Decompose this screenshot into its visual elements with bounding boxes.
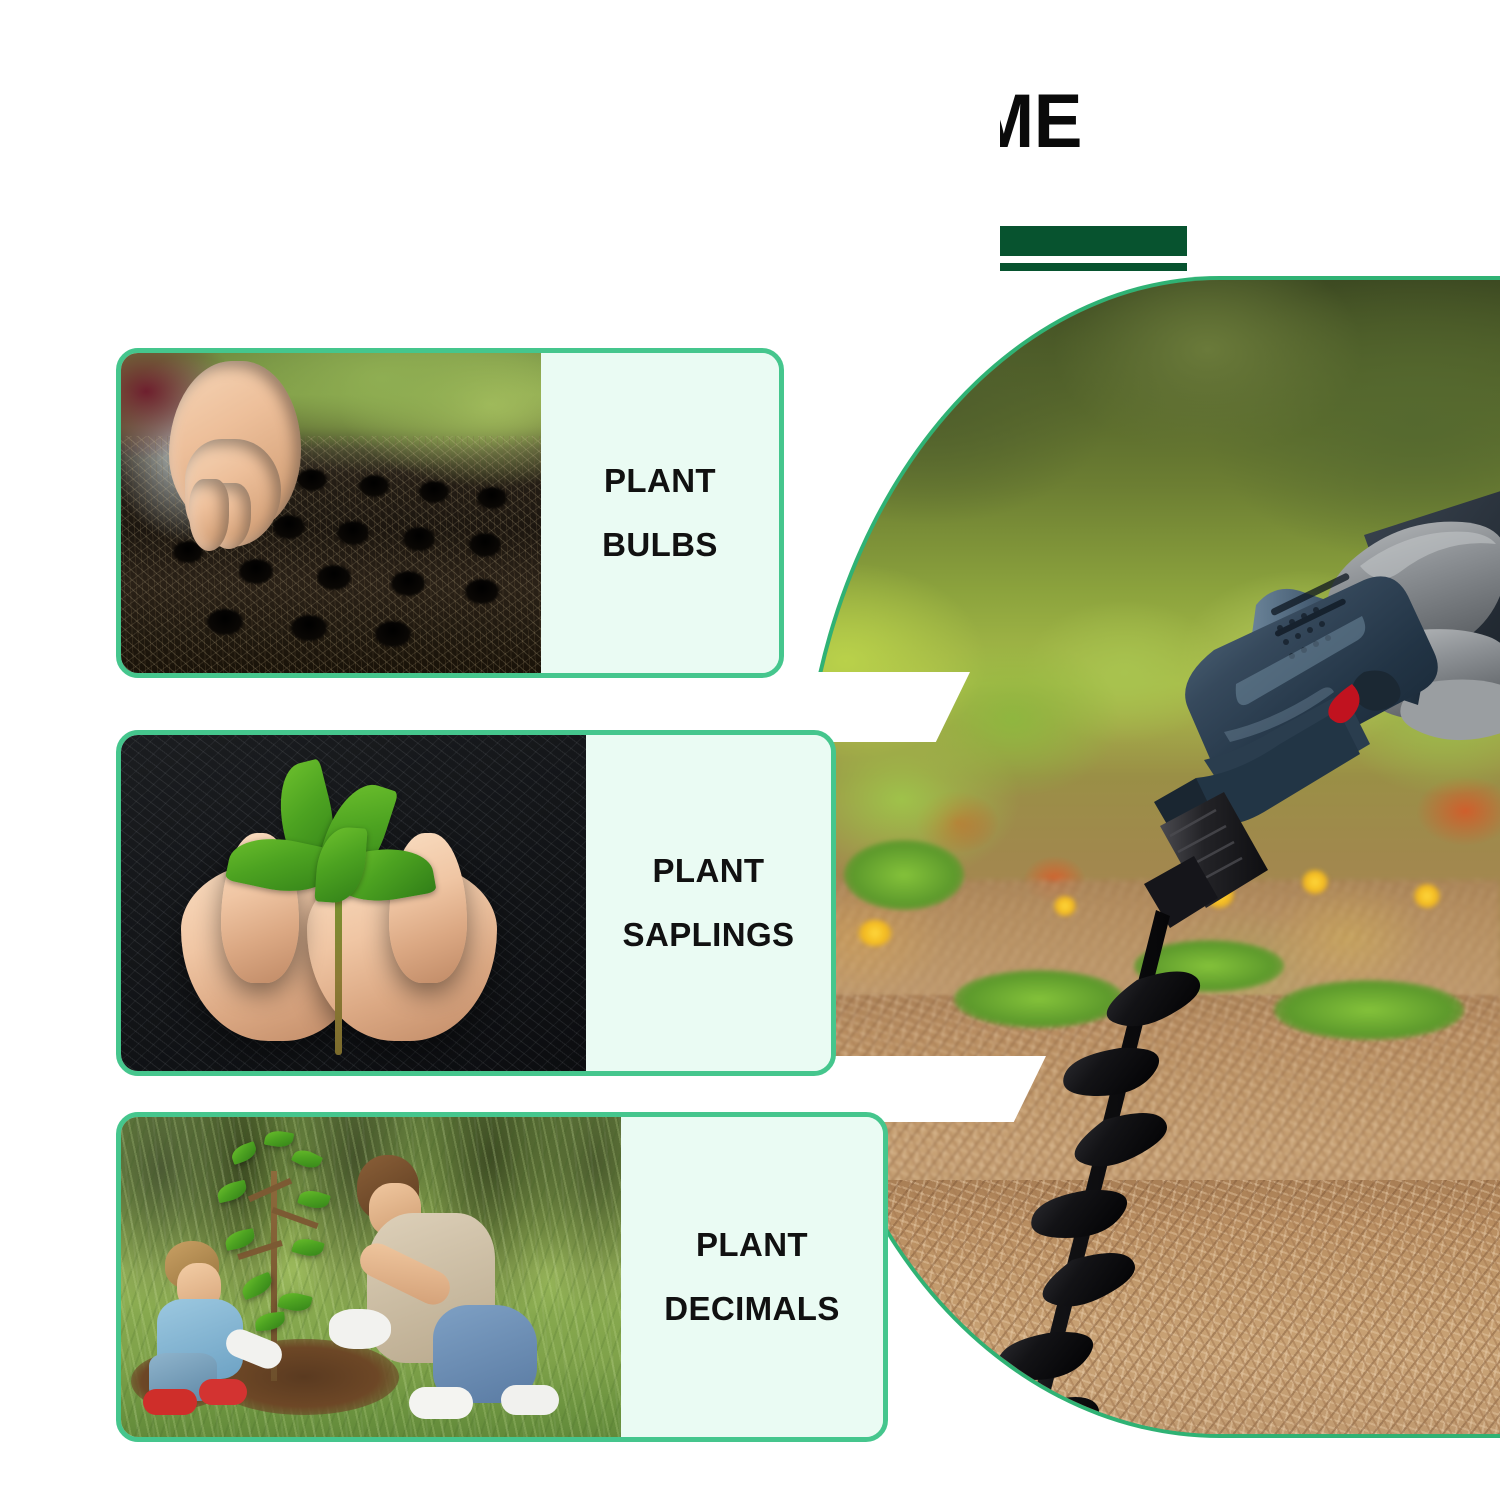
card-label-decimals: PLANT DECIMALS [621, 1117, 883, 1437]
feature-card-saplings[interactable]: PLANT SAPLINGS [116, 730, 836, 1076]
card-label-line1: PLANT [653, 852, 765, 890]
card-label-line2: DECIMALS [664, 1290, 840, 1328]
card-photo-bulbs [121, 353, 541, 673]
card-label-saplings: PLANT SAPLINGS [586, 735, 831, 1071]
card-label-line2: BULBS [602, 526, 718, 564]
card-label-line2: SAPLINGS [623, 916, 795, 954]
product-illustration [804, 280, 1500, 1438]
hero-photo [804, 280, 1500, 1434]
feature-card-decimals[interactable]: PLANT DECIMALS [116, 1112, 888, 1442]
card-label-line1: PLANT [604, 462, 716, 500]
hero-product-panel [800, 276, 1500, 1438]
spiral-auger-bit-icon [970, 910, 1201, 1438]
layout-wedge [0, 0, 1000, 280]
card-photo-saplings [121, 735, 586, 1071]
card-label-line1: PLANT [696, 1226, 808, 1264]
card-photo-decimals [121, 1117, 621, 1437]
layout-wedge [0, 1440, 1060, 1500]
card-label-bulbs: PLANT BULBS [541, 353, 779, 673]
feature-card-bulbs[interactable]: PLANT BULBS [116, 348, 784, 678]
